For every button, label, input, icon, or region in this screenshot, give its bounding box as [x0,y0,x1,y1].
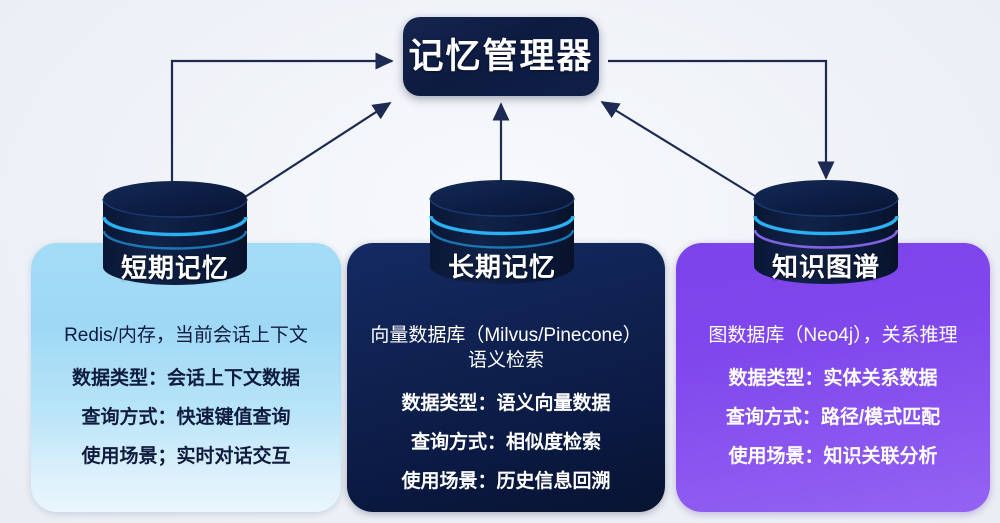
card-long-term-body: 向量数据库（Milvus/Pinecone） 语义检索 数据类型：语义向量数据 … [347,301,665,502]
card-knowledge-graph-attributes: 数据类型：实体关系数据 查询方式：路径/模式匹配 使用场景：知识关联分析 [726,368,940,468]
attribute-query-method: 查询方式：相似度检索 [411,432,601,454]
manager-label: 记忆管理器 [408,39,593,74]
connector-graph-diagonal-to-manager [602,102,755,196]
connector-short-elbow-to-manager [172,61,392,192]
attribute-use-case: 使用场景：历史信息回溯 [401,471,610,493]
attribute-query-method: 查询方式：快速键值查询 [81,407,290,429]
cylinder-label-short-term: 短期记忆 [101,255,249,281]
attribute-use-case: 使用场景：知识关联分析 [728,446,937,468]
database-cylinder-knowledge-graph[interactable]: 知识图谱 [752,178,900,286]
attribute-data-type: 数据类型：实体关系数据 [728,368,937,390]
connector-manager-elbow-to-graph [608,61,826,178]
cylinder-label-knowledge-graph: 知识图谱 [752,254,900,280]
card-short-term-headline: Redis/内存，当前会话上下文 [64,323,308,348]
card-knowledge-graph-body: 图数据库（Neo4j），关系推理 数据类型：实体关系数据 查询方式：路径/模式匹… [676,301,990,502]
attribute-use-case: 使用场景；实时对话交互 [81,446,290,468]
card-short-term-attributes: 数据类型：会话上下文数据 查询方式：快速键值查询 使用场景；实时对话交互 [72,368,300,468]
database-cylinder-short-term[interactable]: 短期记忆 [101,179,249,287]
attribute-query-method: 查询方式：路径/模式匹配 [726,407,940,429]
diagram-canvas: 记忆管理器 Redis/内存，当前会话上下文 数据类型：会话上下文数据 查询方式… [0,0,1000,523]
database-cylinder-long-term[interactable]: 长期记忆 [428,178,576,286]
cylinder-label-long-term: 长期记忆 [428,254,576,280]
connector-short-diagonal-to-manager [245,103,390,197]
card-long-term-headline: 向量数据库（Milvus/Pinecone） 语义检索 [370,323,641,373]
card-long-term-attributes: 数据类型：语义向量数据 查询方式：相似度检索 使用场景：历史信息回溯 [401,393,610,493]
card-short-term-body: Redis/内存，当前会话上下文 数据类型：会话上下文数据 查询方式：快速键值查… [31,301,341,502]
card-knowledge-graph-headline: 图数据库（Neo4j），关系推理 [708,323,957,348]
manager-box[interactable]: 记忆管理器 [403,17,599,96]
attribute-data-type: 数据类型：会话上下文数据 [72,368,300,390]
attribute-data-type: 数据类型：语义向量数据 [401,393,610,415]
